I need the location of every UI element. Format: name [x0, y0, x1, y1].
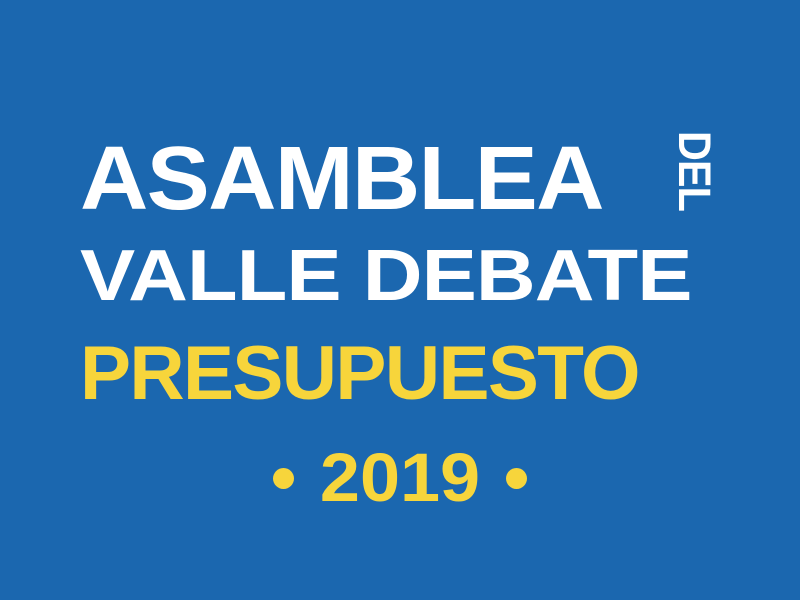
headline-line-presupuesto: PRESUPUESTO — [0, 336, 800, 420]
headline-word-asamblea: ASAMBLEA — [80, 134, 603, 224]
bullet-dot-icon-left — [273, 468, 294, 489]
headline-line-year: 2019 — [0, 446, 800, 510]
headline-word-valle-debate: VALLE DEBATE — [80, 240, 691, 312]
headline-word-del: DEL — [670, 131, 716, 211]
bullet-dot-icon-right — [506, 468, 527, 489]
headline-line-valle-debate: VALLE DEBATE — [0, 240, 800, 320]
poster-canvas: ASAMBLEA DEL VALLE DEBATE PRESUPUESTO 20… — [0, 0, 800, 600]
headline-year-value: 2019 — [320, 444, 480, 512]
headline-word-presupuesto: PRESUPUESTO — [80, 336, 639, 412]
headline-del-rotated-block: DEL — [670, 131, 716, 223]
